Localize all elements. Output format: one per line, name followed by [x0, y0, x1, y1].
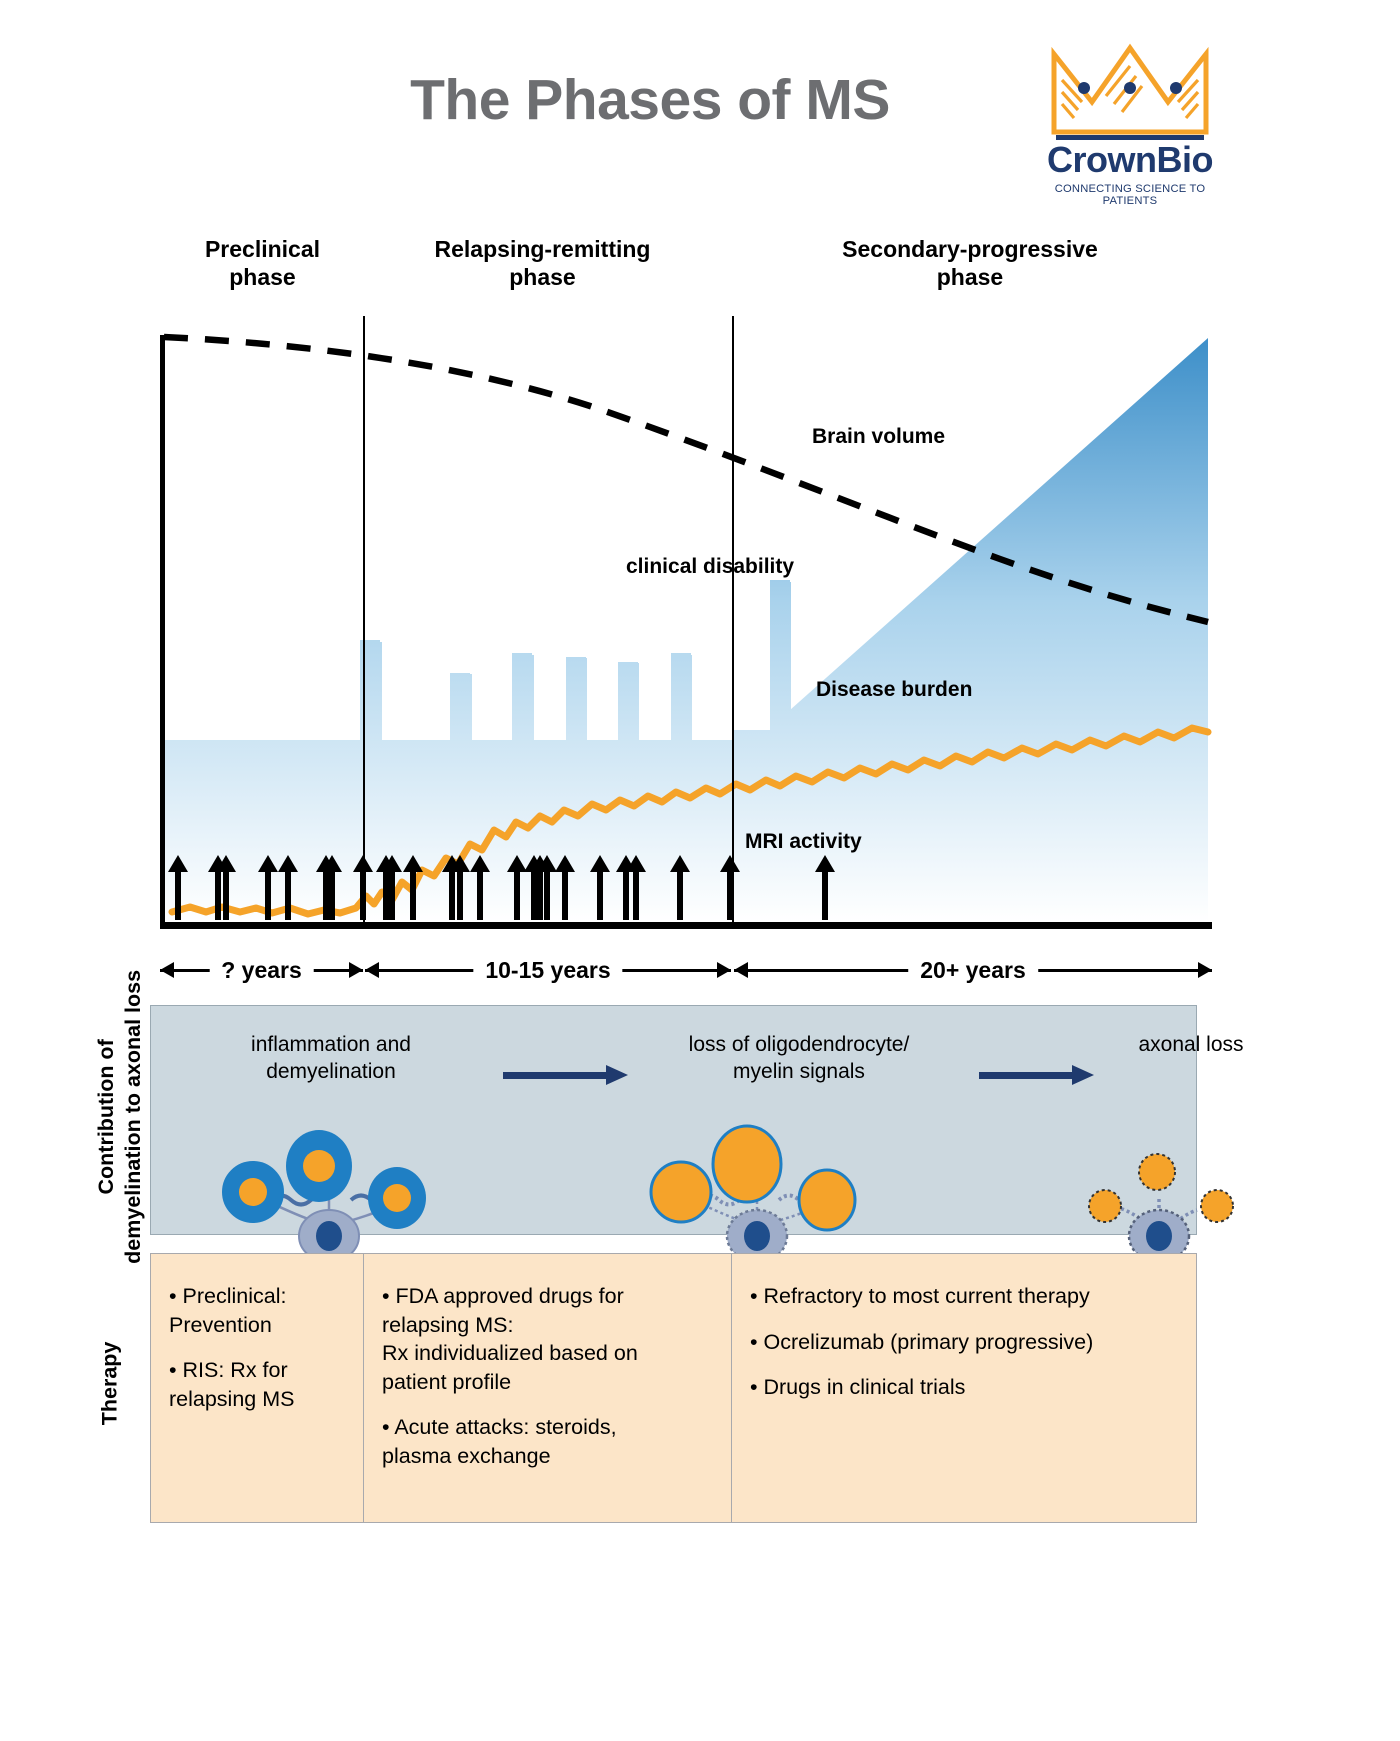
label-mri-activity: MRI activity: [745, 830, 862, 854]
phase-header-secondary-progressive: Secondary-progressive phase: [725, 235, 1215, 291]
therapy-bullet: • Refractory to most current therapy: [750, 1282, 1180, 1311]
neuron-icon-intact: [201, 1114, 461, 1259]
cell-diagram-inflammation: [201, 1114, 461, 1259]
clinical-disability-shape: [164, 338, 1208, 922]
therapy-bullet: • FDA approved drugs for relapsing MS: R…: [382, 1282, 715, 1396]
phase-header-relapsing-remitting: Relapsing-remitting phase: [365, 235, 720, 291]
year-seg-secondary: 20+ years: [734, 950, 1212, 990]
mechanism-arrow-2: [979, 1068, 1094, 1082]
side-label-therapy: Therapy: [97, 1303, 124, 1463]
year-range-bar: ? years 10-15 years 20+ years: [160, 950, 1212, 990]
therapy-panel: • Preclinical: Prevention • RIS: Rx for …: [150, 1253, 1197, 1523]
therapy-column-preclinical: • Preclinical: Prevention • RIS: Rx for …: [151, 1254, 363, 1522]
year-label-relapsing: 10-15 years: [473, 950, 622, 990]
page-title: The Phases of MS: [330, 72, 970, 129]
chart-svg: [160, 310, 1212, 930]
logo-tagline: CONNECTING SCIENCE TO PATIENTS: [1030, 183, 1230, 207]
phase-header-preclinical: Preclinical phase: [160, 235, 365, 291]
cell-diagram-myelin-loss: [629, 1114, 889, 1259]
phase-divider-2: [732, 316, 734, 924]
therapy-bullet: • Ocrelizumab (primary progressive): [750, 1328, 1180, 1357]
x-axis: [160, 922, 1212, 929]
label-clinical-disability: clinical disability: [626, 555, 794, 579]
y-axis: [160, 335, 165, 927]
year-label-preclinical: ? years: [209, 950, 314, 990]
label-brain-volume: Brain volume: [812, 425, 945, 449]
neuron-icon-demyelinated: [629, 1114, 889, 1259]
cell-diagram-axonal-loss: [1031, 1114, 1291, 1259]
year-seg-preclinical: ? years: [160, 950, 363, 990]
mechanism-arrow-1: [503, 1068, 628, 1082]
phases-chart: Preclinical phase Relapsing-remitting ph…: [0, 215, 1400, 975]
mechanism-step-3: axonal loss: [1101, 1032, 1281, 1059]
header: The Phases of MS CrownBio CONNEC: [0, 0, 1400, 215]
label-disease-burden: Disease burden: [816, 678, 972, 702]
year-seg-relapsing: 10-15 years: [365, 950, 731, 990]
year-label-secondary: 20+ years: [908, 950, 1038, 990]
therapy-bullet: • Drugs in clinical trials: [750, 1373, 1180, 1402]
crownbio-logo: CrownBio CONNECTING SCIENCE TO PATIENTS: [1030, 40, 1230, 195]
logo-wordmark: CrownBio: [1030, 142, 1230, 178]
mechanism-step-2: loss of oligodendrocyte/ myelin signals: [639, 1032, 959, 1086]
side-label-mechanism: Contribution of demyelination to axonal …: [93, 967, 147, 1267]
phase-divider-1: [363, 316, 365, 924]
crown-icon: [1048, 40, 1212, 140]
therapy-bullet: • RIS: Rx for relapsing MS: [169, 1356, 347, 1413]
neuron-icon-axonal-loss: [1031, 1114, 1291, 1259]
mechanism-panel: inflammation and demyelination loss of o…: [150, 1005, 1197, 1235]
therapy-bullet: • Acute attacks: steroids, plasma exchan…: [382, 1413, 715, 1470]
mechanism-step-1: inflammation and demyelination: [181, 1032, 481, 1086]
plot-area: Brain volume clinical disability Disease…: [160, 310, 1212, 915]
therapy-bullet: • Preclinical: Prevention: [169, 1282, 347, 1339]
therapy-column-secondary: • Refractory to most current therapy • O…: [731, 1254, 1196, 1522]
therapy-column-relapsing: • FDA approved drugs for relapsing MS: R…: [363, 1254, 731, 1522]
